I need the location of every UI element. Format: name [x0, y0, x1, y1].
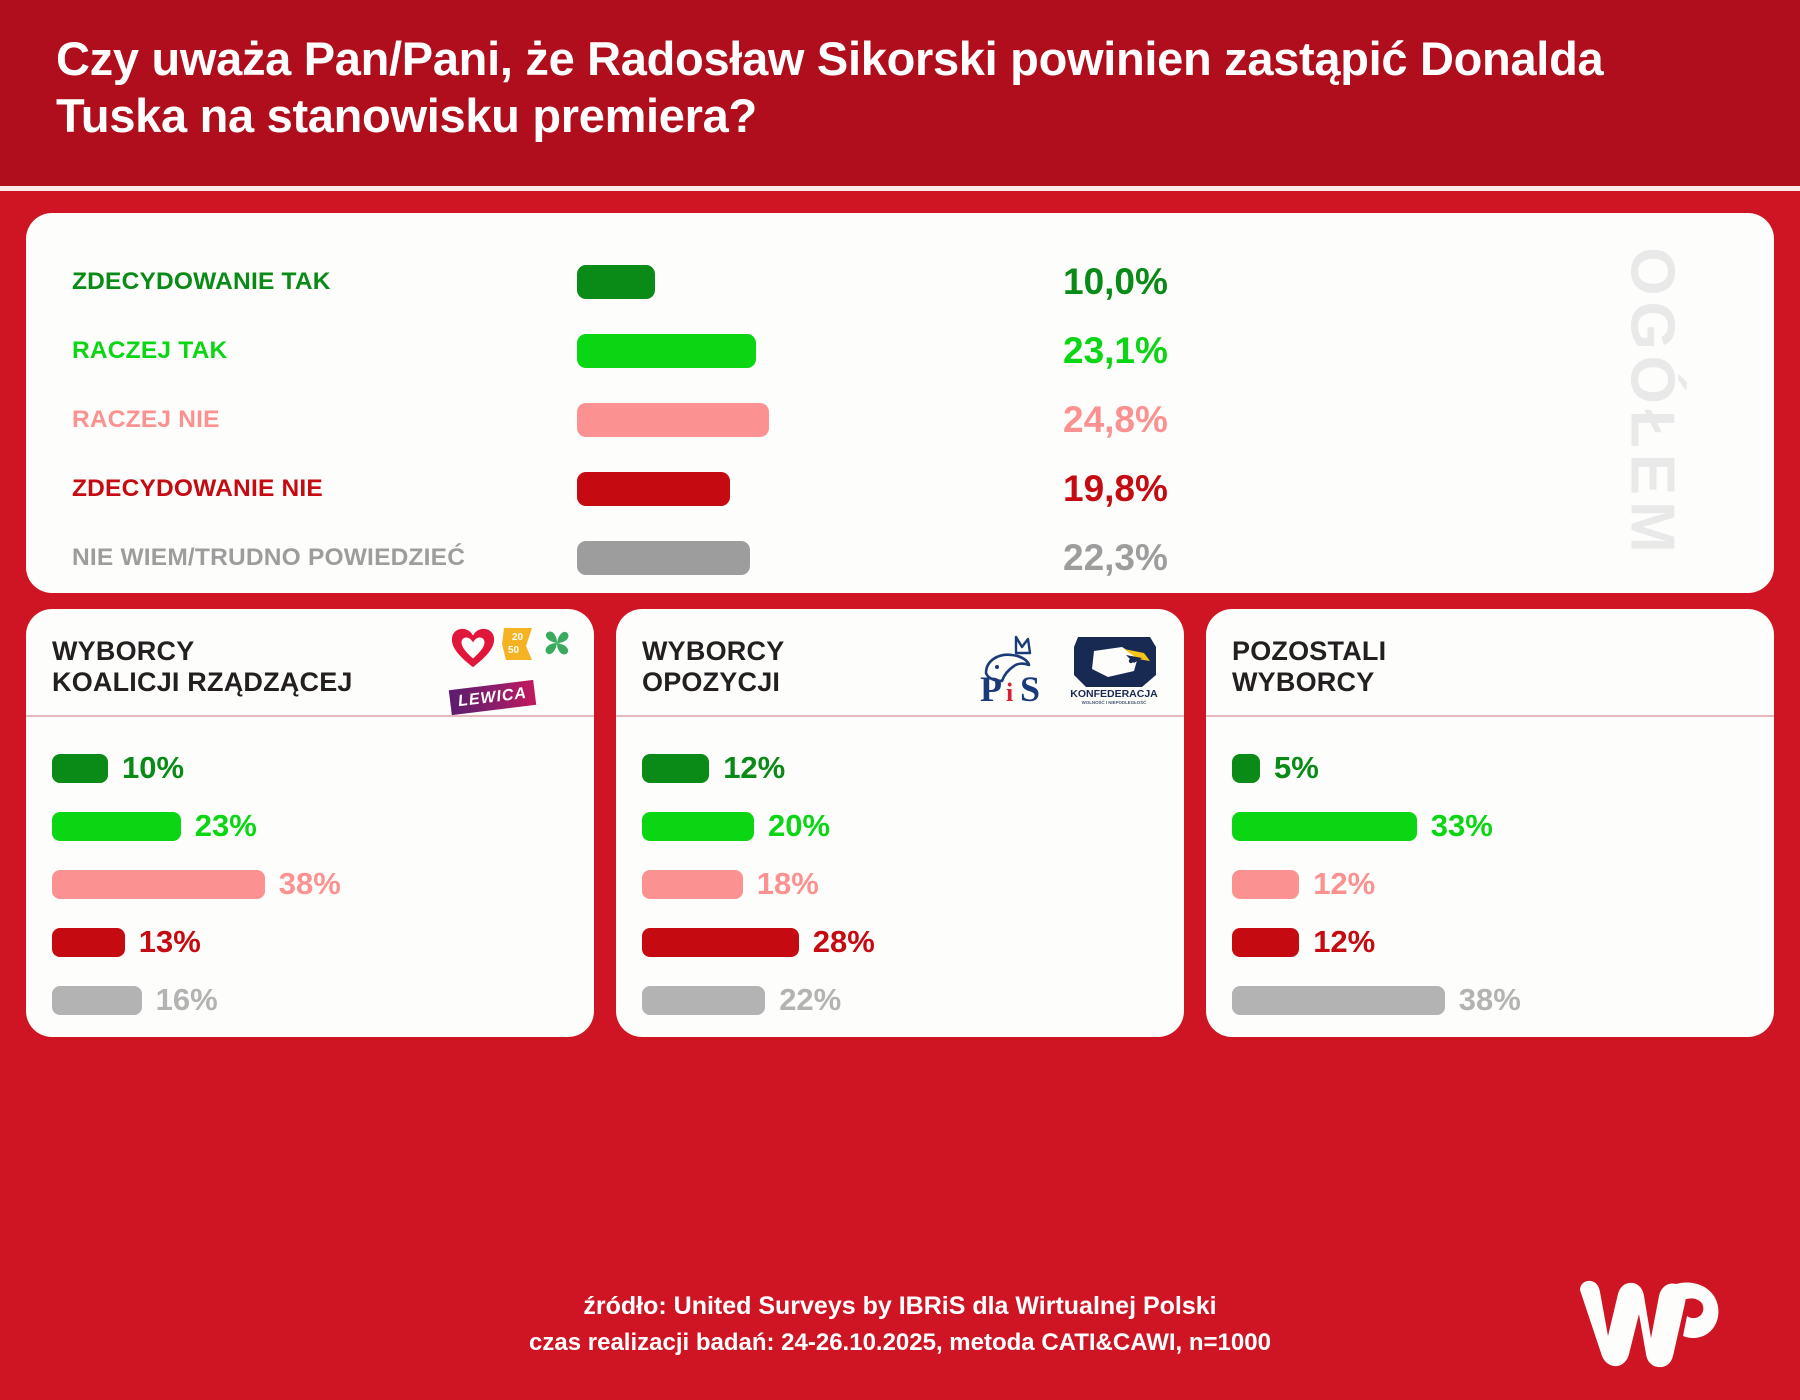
footer: źródło: United Surveys by IBRiS dla Wirt…: [0, 1248, 1800, 1400]
polska2050-logo: 20 50: [500, 626, 536, 664]
overall-bar-fill: [577, 334, 756, 368]
panel-bar-fill: [52, 928, 125, 957]
overall-bar-track: [577, 403, 1047, 437]
panel-title-line1: WYBORCY: [642, 636, 784, 667]
overall-bar-track: [577, 472, 1047, 506]
panel-bar-fill: [52, 812, 181, 841]
panel-bar-row: 38%: [1232, 971, 1750, 1029]
konfederacja-wordmark: KONFEDERACJA: [1070, 688, 1158, 700]
panel-bar-value: 12%: [723, 750, 785, 786]
panel-bar-row: 38%: [52, 855, 570, 913]
overall-results-card: OGÓŁEM ZDECYDOWANIE TAK10,0%RACZEJ TAK23…: [26, 213, 1774, 593]
panel-bar-fill: [1232, 754, 1260, 783]
ko-heart-logo: [450, 626, 496, 670]
overall-bar-label: RACZEJ TAK: [72, 337, 577, 365]
panel-header: POZOSTALI WYBORCY: [1206, 609, 1774, 717]
panel-bar-fill: [642, 928, 799, 957]
panel-bar-value: 38%: [279, 866, 341, 902]
panel-bar-row: 12%: [1232, 855, 1750, 913]
panel-bar-fill: [642, 754, 709, 783]
panel-bar-value: 13%: [139, 924, 201, 960]
svg-text:S: S: [1020, 669, 1040, 705]
panel-bar-row: 12%: [1232, 913, 1750, 971]
panel-title: WYBORCY KOALICJI RZĄDZĄCEJ: [52, 636, 353, 699]
panel-bar-row: 16%: [52, 971, 570, 1029]
panel-bar-row: 20%: [642, 797, 1160, 855]
panel-title: POZOSTALI WYBORCY: [1232, 636, 1386, 699]
panel-bar-fill: [642, 986, 765, 1015]
panel-bar-value: 5%: [1274, 750, 1319, 786]
overall-bar-fill: [577, 265, 655, 299]
overall-bar-label: RACZEJ NIE: [72, 406, 577, 434]
panel-pozostali-wyborcy: POZOSTALI WYBORCY 5%33%12%12%38%: [1206, 609, 1774, 1037]
coalition-logo-cluster: 20 50: [450, 626, 574, 708]
panel-bar-value: 22%: [779, 982, 841, 1018]
overall-bar-fill: [577, 541, 750, 575]
overall-bar-track: [577, 541, 1047, 575]
content-stage: OGÓŁEM ZDECYDOWANIE TAK10,0%RACZEJ TAK23…: [0, 213, 1800, 1037]
svg-text:i: i: [1006, 678, 1013, 705]
panel-title: WYBORCY OPOZYCJI: [642, 636, 784, 699]
konfederacja-logo: KONFEDERACJA WOLNOŚĆ I NIEPODLEGŁOŚĆ: [1064, 627, 1164, 707]
panel-bar-fill: [642, 812, 754, 841]
panel-bar-fill: [52, 986, 142, 1015]
overall-bar-row: RACZEJ TAK23,1%: [72, 316, 1734, 385]
panel-bar-list: 12%20%18%28%22%: [616, 717, 1184, 1037]
panel-bar-row: 23%: [52, 797, 570, 855]
panel-bar-fill: [52, 870, 265, 899]
overall-bar-list: ZDECYDOWANIE TAK10,0%RACZEJ TAK23,1%RACZ…: [72, 247, 1734, 592]
panel-title-line2: OPOZYCJI: [642, 667, 784, 698]
panel-bar-list: 10%23%38%13%16%: [26, 717, 594, 1037]
overall-bar-row: ZDECYDOWANIE TAK10,0%: [72, 247, 1734, 316]
psl-clover-logo: [540, 626, 574, 660]
panel-bar-value: 38%: [1459, 982, 1521, 1018]
overall-bar-track: [577, 334, 1047, 368]
overall-bar-row: NIE WIEM/TRUDNO POWIEDZIEĆ22,3%: [72, 523, 1734, 592]
segment-panels: WYBORCY KOALICJI RZĄDZĄCEJ: [26, 609, 1774, 1037]
panel-logo-group: P i S KONFEDERACJA WOLNOŚĆ I NIEPODLEGŁO…: [972, 627, 1164, 707]
overall-bar-track: [577, 265, 1047, 299]
panel-bar-value: 12%: [1313, 866, 1375, 902]
panel-bar-row: 5%: [1232, 739, 1750, 797]
panel-bar-value: 10%: [122, 750, 184, 786]
panel-header: WYBORCY OPOZYCJI P i S: [616, 609, 1184, 717]
panel-bar-fill: [1232, 870, 1299, 899]
panel-bar-row: 12%: [642, 739, 1160, 797]
wp-logo: [1566, 1274, 1730, 1370]
page-title: Czy uważa Pan/Pani, że Radosław Sikorski…: [56, 30, 1736, 145]
header-banner: Czy uważa Pan/Pani, że Radosław Sikorski…: [0, 0, 1800, 186]
panel-title-line2: WYBORCY: [1232, 667, 1386, 698]
overall-bar-row: RACZEJ NIE24,8%: [72, 385, 1734, 454]
panel-bar-row: 18%: [642, 855, 1160, 913]
overall-bar-fill: [577, 472, 730, 506]
panel-bar-value: 33%: [1431, 808, 1493, 844]
panel-bar-fill: [1232, 986, 1445, 1015]
panel-bar-row: 10%: [52, 739, 570, 797]
panel-title-line1: POZOSTALI: [1232, 636, 1386, 667]
panel-title-line2: KOALICJI RZĄDZĄCEJ: [52, 667, 353, 698]
footer-source: źródło: United Surveys by IBRiS dla Wirt…: [583, 1292, 1216, 1321]
panel-logo-group: 20 50: [450, 626, 574, 708]
panel-bar-row: 13%: [52, 913, 570, 971]
panel-bar-fill: [1232, 928, 1299, 957]
konfederacja-subtitle: WOLNOŚĆ I NIEPODLEGŁOŚĆ: [1082, 700, 1147, 705]
panel-bar-row: 22%: [642, 971, 1160, 1029]
lewica-logo: LEWICA: [450, 685, 535, 710]
overall-bar-value: 23,1%: [1063, 330, 1168, 372]
overall-watermark: OGÓŁEM: [1617, 247, 1688, 559]
pis-logo: P i S: [972, 629, 1058, 705]
panel-bar-row: 33%: [1232, 797, 1750, 855]
overall-bar-fill: [577, 403, 769, 437]
panel-bar-value: 28%: [813, 924, 875, 960]
panel-bar-fill: [1232, 812, 1417, 841]
overall-bar-label: ZDECYDOWANIE TAK: [72, 268, 577, 296]
panel-bar-value: 12%: [1313, 924, 1375, 960]
panel-header: WYBORCY KOALICJI RZĄDZĄCEJ: [26, 609, 594, 717]
panel-bar-value: 16%: [156, 982, 218, 1018]
panel-bar-list: 5%33%12%12%38%: [1206, 717, 1774, 1037]
panel-bar-value: 18%: [757, 866, 819, 902]
panel-title-line1: WYBORCY: [52, 636, 353, 667]
svg-text:20: 20: [512, 632, 524, 643]
header-divider: [0, 186, 1800, 191]
svg-text:50: 50: [508, 645, 520, 656]
footer-method: czas realizacji badań: 24-26.10.2025, me…: [529, 1329, 1271, 1357]
panel-bar-value: 20%: [768, 808, 830, 844]
panel-bar-fill: [52, 754, 108, 783]
panel-bar-value: 23%: [195, 808, 257, 844]
panel-bar-fill: [642, 870, 743, 899]
panel-opozycja: WYBORCY OPOZYCJI P i S: [616, 609, 1184, 1037]
panel-koalicja-rzadzaca: WYBORCY KOALICJI RZĄDZĄCEJ: [26, 609, 594, 1037]
overall-bar-value: 22,3%: [1063, 537, 1168, 579]
overall-bar-value: 19,8%: [1063, 468, 1168, 510]
overall-bar-label: NIE WIEM/TRUDNO POWIEDZIEĆ: [72, 544, 577, 572]
svg-text:P: P: [980, 669, 1002, 705]
panel-bar-row: 28%: [642, 913, 1160, 971]
overall-bar-label: ZDECYDOWANIE NIE: [72, 475, 577, 503]
overall-bar-value: 24,8%: [1063, 399, 1168, 441]
lewica-label: LEWICA: [449, 680, 537, 715]
overall-bar-value: 10,0%: [1063, 261, 1168, 303]
overall-bar-row: ZDECYDOWANIE NIE19,8%: [72, 454, 1734, 523]
